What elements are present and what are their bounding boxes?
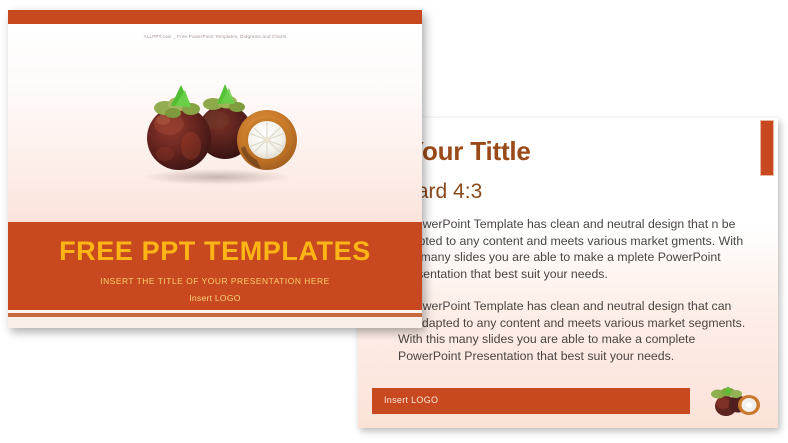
accent-bar-icon (760, 120, 774, 176)
slide-1-logo-label: Insert LOGO (8, 293, 422, 303)
slide-1-credit-line: ALLPPT.com _ Free PowerPoint Templates, … (8, 34, 422, 39)
slide-1-footer (8, 317, 422, 328)
mangosteen-photo (117, 76, 313, 188)
mangosteen-thumbnail-icon (704, 382, 764, 418)
slide-1-subheading: INSERT THE TITLE OF YOUR PRESENTATION HE… (8, 276, 422, 286)
preview-canvas: er Your Tittle tandard 4:3 s PowerPoint … (0, 0, 788, 443)
slide-1-body: ALLPPT.com _ Free PowerPoint Templates, … (8, 24, 422, 222)
slide-1-heading: FREE PPT TEMPLATES (8, 236, 422, 267)
slide-2-logo-bar: Insert LOGO (372, 388, 690, 414)
slide-1[interactable]: ALLPPT.com _ Free PowerPoint Templates, … (8, 10, 422, 328)
slide-2-paragraph-1: s PowerPoint Template has clean and neut… (398, 216, 748, 282)
slide-2-logo-label: Insert LOGO (384, 395, 438, 405)
slide-2-paragraph-2: s PowerPoint Template has clean and neut… (398, 298, 748, 364)
slide-1-top-bar (8, 10, 422, 24)
slide-1-title-band: FREE PPT TEMPLATES INSERT THE TITLE OF Y… (8, 222, 422, 310)
